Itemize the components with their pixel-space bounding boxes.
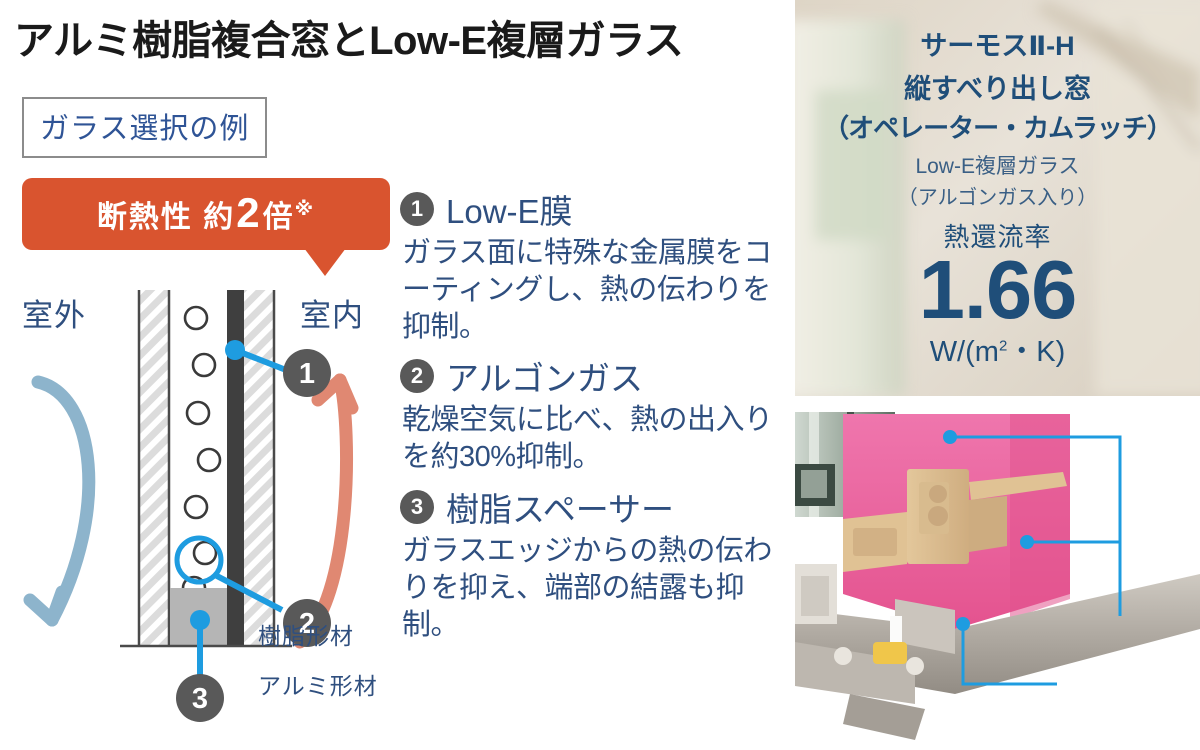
product-name: サーモスⅡ-H (920, 24, 1074, 63)
feature-item-2: 2 アルゴンガス 乾燥空気に比べ、熱の出入りを約30%抑制。 (400, 352, 785, 476)
feature-item-3: 3 樹脂スペーサー ガラスエッジからの熱の伝わりを抑え、端部の結露も抑制。 (400, 483, 785, 644)
callout-label-resin: 樹脂形材 (258, 617, 354, 651)
insulation-banner-text: 断熱性 約2倍※ (97, 192, 315, 236)
callout-badge-1-label: 1 (299, 358, 315, 390)
product-spec-panel: サーモスⅡ-H 縦すべり出し窓 （オペレーター・カムラッチ） Low-E複層ガラ… (795, 0, 1200, 396)
callout-label-aluminum: アルミ形材 (258, 667, 378, 701)
feature-3-title: 樹脂スペーサー (446, 483, 674, 531)
metric-value: 1.66 (919, 252, 1077, 328)
feature-2-body: 乾燥空気に比べ、熱の出入りを約30%抑制。 (402, 402, 785, 476)
feature-1-title: Low-E膜 (446, 185, 573, 233)
banner-prefix: 断熱性 約 (97, 192, 235, 236)
argon-gas-cavity (183, 307, 220, 636)
window-sill-cutaway-photo (795, 404, 1200, 750)
feature-3-head: 3 樹脂スペーサー (400, 483, 785, 531)
insulation-banner: 断熱性 約2倍※ (22, 178, 390, 270)
product-glass: Low-E複層ガラス (915, 150, 1079, 180)
feature-1-number: 1 (400, 192, 434, 226)
product-window-type: 縦すべり出し窓 (904, 67, 1091, 106)
feature-1-body: ガラス面に特殊な金属膜をコーティングし、熱の伝わりを抑制。 (402, 235, 785, 346)
feature-2-number: 2 (400, 359, 434, 393)
metric-unit-post: ・K) (1007, 336, 1065, 368)
photo-resin-shadow (1010, 414, 1070, 619)
infographic-page: アルミ樹脂複合窓とLow‐E複層ガラス ガラス選択の例 断熱性 約2倍※ 室外 … (0, 0, 1200, 750)
product-glass-detail: （アルゴンガス入り） (898, 181, 1097, 210)
right-column: サーモスⅡ-H 縦すべり出し窓 （オペレーター・カムラッチ） Low-E複層ガラ… (795, 0, 1200, 750)
cold-air-arrowhead (30, 592, 62, 620)
metric-unit: W/(m2・K) (930, 328, 1066, 370)
feature-list: 1 Low-E膜 ガラス面に特殊な金属膜をコーティングし、熱の伝わりを抑制。 2… (400, 185, 785, 650)
outer-glass-pane (138, 290, 170, 645)
sill-cutaway-panel (795, 404, 1200, 750)
callout-badge-3-label: 3 (192, 683, 208, 715)
insulation-banner-body: 断熱性 約2倍※ (22, 178, 390, 250)
banner-multiplier: 2 (235, 192, 262, 234)
product-mechanism: （オペレーター・カムラッチ） (823, 108, 1172, 145)
product-spec-text: サーモスⅡ-H 縦すべり出し窓 （オペレーター・カムラッチ） Low-E複層ガラ… (795, 0, 1200, 396)
feature-2-title: アルゴンガス (446, 352, 643, 400)
left-column: アルミ樹脂複合窓とLow‐E複層ガラス ガラス選択の例 断熱性 約2倍※ 室外 … (0, 0, 795, 750)
subtitle-badge: ガラス選択の例 (22, 97, 267, 158)
leader-dot-3 (190, 610, 210, 630)
feature-2-head: 2 アルゴンガス (400, 352, 785, 400)
feature-1-head: 1 Low-E膜 (400, 185, 785, 233)
cold-air-arrow (38, 382, 89, 620)
feature-item-1: 1 Low-E膜 ガラス面に特殊な金属膜をコーティングし、熱の伝わりを抑制。 (400, 185, 785, 346)
metric-unit-pre: W/(m (930, 336, 999, 368)
leader-dot-1 (225, 340, 245, 360)
feature-3-number: 3 (400, 490, 434, 524)
banner-footnote-mark: ※ (295, 198, 315, 221)
page-title: アルミ樹脂複合窓とLow‐E複層ガラス (14, 8, 784, 66)
feature-3-body: ガラスエッジからの熱の伝わりを抑え、端部の結露も抑制。 (402, 533, 785, 644)
banner-suffix: 倍 (263, 192, 295, 236)
